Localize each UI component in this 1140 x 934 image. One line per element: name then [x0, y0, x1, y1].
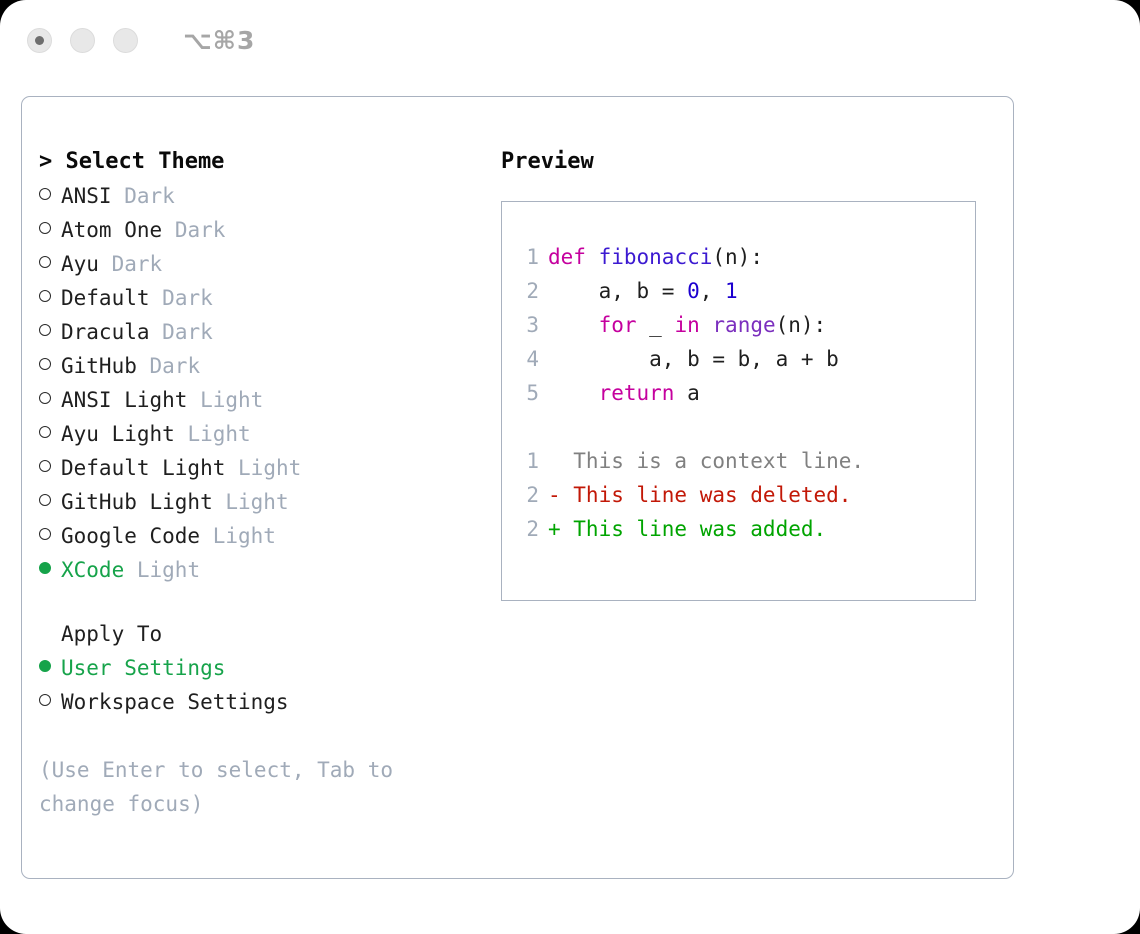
diff-line-del: 2- This line was deleted.: [502, 478, 975, 512]
line-number: 1: [502, 240, 548, 274]
code-line-content: for _ in range(n):: [548, 308, 826, 342]
theme-variant-badge: Dark: [124, 179, 175, 213]
code-line: 5 return a: [502, 376, 975, 410]
theme-variant-badge: Dark: [175, 213, 226, 247]
token-pl: a: [674, 381, 699, 405]
token-pl: a, b =: [548, 279, 687, 303]
theme-variant-badge: Dark: [162, 315, 213, 349]
code-diff-separator: [502, 410, 975, 444]
theme-option-github[interactable]: GitHub Dark: [39, 349, 499, 383]
line-number: 5: [502, 376, 548, 410]
theme-variant-badge: Light: [213, 519, 276, 553]
token-pl: (n):: [712, 245, 763, 269]
code-line: 3 for _ in range(n):: [502, 308, 975, 342]
line-number: 4: [502, 342, 548, 376]
preview-column: Preview 1def fibonacci(n):2 a, b = 0, 13…: [501, 145, 1001, 601]
theme-option-label: Ayu Light: [61, 417, 175, 451]
diff-line-content: - This line was deleted.: [548, 478, 851, 512]
apply-to-option-list: User SettingsWorkspace Settings: [39, 651, 499, 719]
diff-line-content: + This line was added.: [548, 512, 826, 546]
line-number: 1: [502, 444, 548, 478]
radio-unselected-icon: [39, 349, 61, 383]
token-pl: [586, 245, 599, 269]
theme-option-default-light[interactable]: Default Light Light: [39, 451, 499, 485]
radio-unselected-icon: [39, 213, 61, 247]
window-control-three[interactable]: [113, 28, 138, 53]
radio-unselected-icon: [39, 383, 61, 417]
label-badge-gap: [137, 349, 150, 383]
token-num: 1: [725, 279, 738, 303]
preview-title: Preview: [501, 145, 1001, 179]
line-number: 2: [502, 274, 548, 308]
radio-unselected-icon: [39, 315, 61, 349]
label-badge-gap: [213, 485, 226, 519]
label-badge-gap: [99, 247, 112, 281]
window-control-record[interactable]: [27, 28, 52, 53]
spacer-after-themes: [39, 587, 499, 617]
token-pl: [700, 313, 713, 337]
theme-option-label: Google Code: [61, 519, 200, 553]
theme-option-label: GitHub Light: [61, 485, 213, 519]
theme-variant-badge: Dark: [150, 349, 201, 383]
theme-option-label: XCode: [61, 553, 124, 587]
keyboard-shortcut-label: ⌥⌘3: [183, 26, 255, 55]
theme-option-default[interactable]: Default Dark: [39, 281, 499, 315]
code-line: 2 a, b = 0, 1: [502, 274, 975, 308]
token-kw: return: [599, 381, 675, 405]
radio-unselected-icon: [39, 451, 61, 485]
token-pl: ,: [700, 279, 725, 303]
apply-to-option-label: User Settings: [61, 651, 225, 685]
theme-variant-badge: Light: [187, 417, 250, 451]
apply-to-option-label: Workspace Settings: [61, 685, 289, 719]
title-bar: ⌥⌘3: [0, 0, 1140, 80]
theme-variant-badge: Light: [238, 451, 301, 485]
theme-option-label: Default Light: [61, 451, 225, 485]
label-badge-gap: [200, 519, 213, 553]
token-num: 0: [687, 279, 700, 303]
panel-columns: > Select Theme ANSI DarkAtom One DarkAyu…: [22, 97, 1013, 878]
label-badge-gap: [225, 451, 238, 485]
apply-to-title: Apply To: [39, 617, 499, 651]
theme-option-ayu[interactable]: Ayu Dark: [39, 247, 499, 281]
main-panel: > Select Theme ANSI DarkAtom One DarkAyu…: [21, 96, 1014, 879]
label-badge-gap: [150, 281, 163, 315]
label-badge-gap: [162, 213, 175, 247]
radio-unselected-icon: [39, 247, 61, 281]
theme-option-label: GitHub: [61, 349, 137, 383]
token-pl: _: [637, 313, 675, 337]
theme-option-dracula[interactable]: Dracula Dark: [39, 315, 499, 349]
radio-unselected-icon: [39, 179, 61, 213]
radio-unselected-icon: [39, 485, 61, 519]
diff-line-ctx: 1 This is a context line.: [502, 444, 975, 478]
radio-selected-icon: [39, 553, 61, 587]
theme-option-label: Dracula: [61, 315, 150, 349]
token-pl: (n):: [776, 313, 827, 337]
theme-option-ansi[interactable]: ANSI Dark: [39, 179, 499, 213]
app-window: ⌥⌘3 > Select Theme ANSI DarkAtom One Dar…: [0, 0, 1140, 934]
theme-option-label: Ayu: [61, 247, 99, 281]
token-kw: def: [548, 245, 586, 269]
label-badge-gap: [112, 179, 125, 213]
theme-option-github-light[interactable]: GitHub Light Light: [39, 485, 499, 519]
theme-variant-badge: Dark: [162, 281, 213, 315]
theme-option-ansi-light[interactable]: ANSI Light Light: [39, 383, 499, 417]
diff-line-add: 2+ This line was added.: [502, 512, 975, 546]
label-badge-gap: [187, 383, 200, 417]
code-line-content: a, b = b, a + b: [548, 342, 839, 376]
theme-variant-badge: Light: [225, 485, 288, 519]
label-badge-gap: [150, 315, 163, 349]
select-theme-heading: > Select Theme: [39, 145, 499, 179]
radio-unselected-icon: [39, 417, 61, 451]
radio-unselected-icon: [39, 519, 61, 553]
radio-unselected-icon: [39, 281, 61, 315]
theme-variant-badge: Light: [137, 553, 200, 587]
apply-to-option-user-settings[interactable]: User Settings: [39, 651, 499, 685]
code-line-content: def fibonacci(n):: [548, 240, 763, 274]
token-pl: a, b = b, a + b: [548, 347, 839, 371]
code-sample: 1def fibonacci(n):2 a, b = 0, 13 for _ i…: [502, 240, 975, 410]
radio-unselected-icon: [39, 685, 61, 719]
theme-variant-badge: Dark: [112, 247, 163, 281]
line-number: 3: [502, 308, 548, 342]
keyboard-hint-text: (Use Enter to select, Tab to change focu…: [39, 753, 459, 821]
theme-option-xcode[interactable]: XCode Light: [39, 553, 499, 587]
label-badge-gap: [124, 553, 137, 587]
theme-picker-column: > Select Theme ANSI DarkAtom One DarkAyu…: [39, 145, 499, 821]
theme-option-label: ANSI Light: [61, 383, 187, 417]
radio-selected-icon: [39, 651, 61, 685]
theme-option-list: ANSI DarkAtom One DarkAyu DarkDefault Da…: [39, 179, 499, 587]
code-line: 4 a, b = b, a + b: [502, 342, 975, 376]
theme-option-label: ANSI: [61, 179, 112, 213]
theme-option-label: Atom One: [61, 213, 162, 247]
code-line-content: return a: [548, 376, 700, 410]
diff-line-content: This is a context line.: [548, 444, 864, 478]
code-line: 1def fibonacci(n):: [502, 240, 975, 274]
window-control-two[interactable]: [70, 28, 95, 53]
theme-option-atom-one[interactable]: Atom One Dark: [39, 213, 499, 247]
line-number: 2: [502, 512, 548, 546]
token-pl: [548, 313, 599, 337]
theme-option-label: Default: [61, 281, 150, 315]
line-number: 2: [502, 478, 548, 512]
spacer-before-hint: [39, 719, 499, 753]
token-fn: fibonacci: [599, 245, 713, 269]
window-controls: [27, 28, 138, 53]
token-bi: range: [712, 313, 775, 337]
token-kw: in: [674, 313, 699, 337]
token-kw: for: [599, 313, 637, 337]
diff-sample: 1 This is a context line.2- This line wa…: [502, 444, 975, 546]
token-pl: [548, 381, 599, 405]
code-preview-box: 1def fibonacci(n):2 a, b = 0, 13 for _ i…: [501, 201, 976, 601]
theme-option-ayu-light[interactable]: Ayu Light Light: [39, 417, 499, 451]
theme-option-google-code[interactable]: Google Code Light: [39, 519, 499, 553]
code-line-content: a, b = 0, 1: [548, 274, 738, 308]
label-badge-gap: [175, 417, 188, 451]
apply-to-option-workspace-settings[interactable]: Workspace Settings: [39, 685, 499, 719]
theme-variant-badge: Light: [200, 383, 263, 417]
record-dot-icon: [35, 36, 44, 45]
